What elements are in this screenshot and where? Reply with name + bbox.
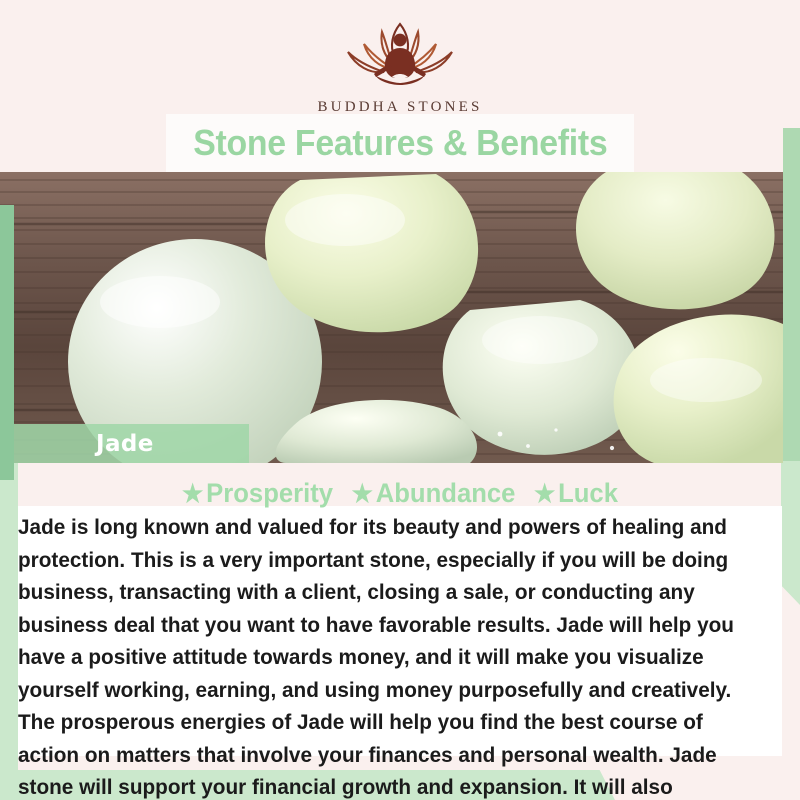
stone-info-card: BUDDHA STONES Stone Features & Benefits [0,0,800,800]
benefit-luck: ★Luck [534,478,618,509]
brand-logo: BUDDHA STONES [0,18,800,116]
benefit-label: Prosperity [206,478,333,508]
star-icon: ★ [182,480,203,508]
page-title: Stone Features & Benefits [193,122,607,164]
decor-right-green-bar [783,128,800,461]
star-icon: ★ [534,480,555,508]
decor-right-green-wedge [781,440,800,605]
decor-left-green-bar [0,205,14,480]
stone-name-label: Jade [96,431,154,457]
stone-description: Jade is long known and valued for its be… [18,511,755,800]
benefits-row: ★Prosperity ★Abundance ★Luck [20,478,780,509]
decor-left-green-bar-lower [0,460,18,770]
star-icon: ★ [352,480,373,508]
benefit-label: Abundance [376,478,516,508]
title-banner: Stone Features & Benefits [166,114,634,172]
stone-photo [0,172,783,463]
benefit-abundance: ★Abundance [352,478,516,509]
benefit-label: Luck [558,478,618,508]
stone-name-badge: Jade [14,424,249,463]
benefit-prosperity: ★Prosperity [182,478,333,509]
description-paragraph: Jade is long known and valued for its be… [18,511,755,800]
lotus-meditation-icon [0,18,800,95]
